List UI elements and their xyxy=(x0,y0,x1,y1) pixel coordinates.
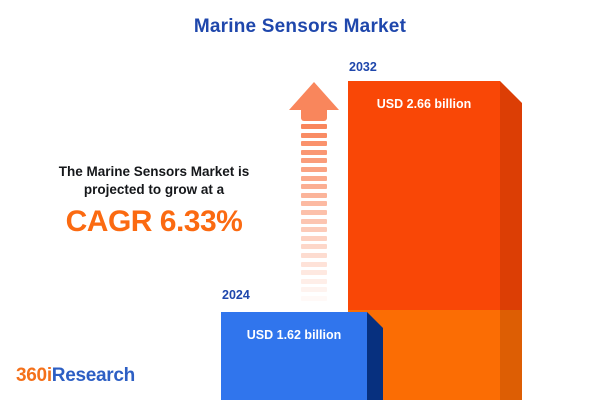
arrow-rung-icon xyxy=(301,210,327,215)
cagr-value-text: CAGR 6.33% xyxy=(34,205,274,238)
cagr-callout: The Marine Sensors Market is projected t… xyxy=(34,163,274,238)
bar-year-label-2024: 2024 xyxy=(222,288,250,302)
arrow-head-icon xyxy=(289,82,339,110)
arrow-rung-icon xyxy=(301,150,327,155)
bar-year-label-2032: 2032 xyxy=(349,60,377,74)
arrow-neck-icon xyxy=(301,109,327,121)
arrow-rung-icon xyxy=(301,176,327,181)
arrow-rung-icon xyxy=(301,279,327,284)
arrow-rung-icon xyxy=(301,133,327,138)
arrow-rung-icon xyxy=(301,227,327,232)
arrow-rung-icon xyxy=(301,270,327,275)
logo-text-research: Research xyxy=(52,365,135,386)
page-title: Marine Sensors Market xyxy=(0,16,600,38)
arrow-rung-icon xyxy=(301,124,327,129)
arrow-rung-icon xyxy=(301,201,327,206)
bar-2032-value-label: USD 2.66 billion xyxy=(348,97,500,111)
bar-2024-value-label: USD 1.62 billion xyxy=(221,328,367,342)
arrow-rung-icon xyxy=(301,193,327,198)
arrow-rung-icon xyxy=(301,304,327,309)
cagr-lead-text: The Marine Sensors Market is projected t… xyxy=(34,163,274,199)
arrow-rung-icon xyxy=(301,219,327,224)
arrow-rungs-icon xyxy=(301,124,327,294)
arrow-rung-icon xyxy=(301,253,327,258)
arrow-rung-icon xyxy=(301,236,327,241)
arrow-rung-icon xyxy=(301,167,327,172)
bar-2032-base-side-face xyxy=(500,310,522,400)
bar-2024-front-face xyxy=(221,312,367,400)
arrow-rung-icon xyxy=(301,184,327,189)
arrow-rung-icon xyxy=(301,296,327,301)
infographic-canvas: Marine Sensors Market The Marine Sensors… xyxy=(0,0,600,400)
arrow-rung-icon xyxy=(301,287,327,292)
bar-2032-side-face xyxy=(500,81,522,310)
arrow-rung-icon xyxy=(301,244,327,249)
brand-logo[interactable]: 360iResearch xyxy=(16,365,135,387)
growth-arrow-icon xyxy=(289,82,339,297)
arrow-rung-icon xyxy=(301,141,327,146)
arrow-rung-icon xyxy=(301,158,327,163)
arrow-rung-icon xyxy=(301,262,327,267)
bar-2032-front-face xyxy=(348,81,500,310)
logo-text-360: 360 xyxy=(16,365,47,386)
